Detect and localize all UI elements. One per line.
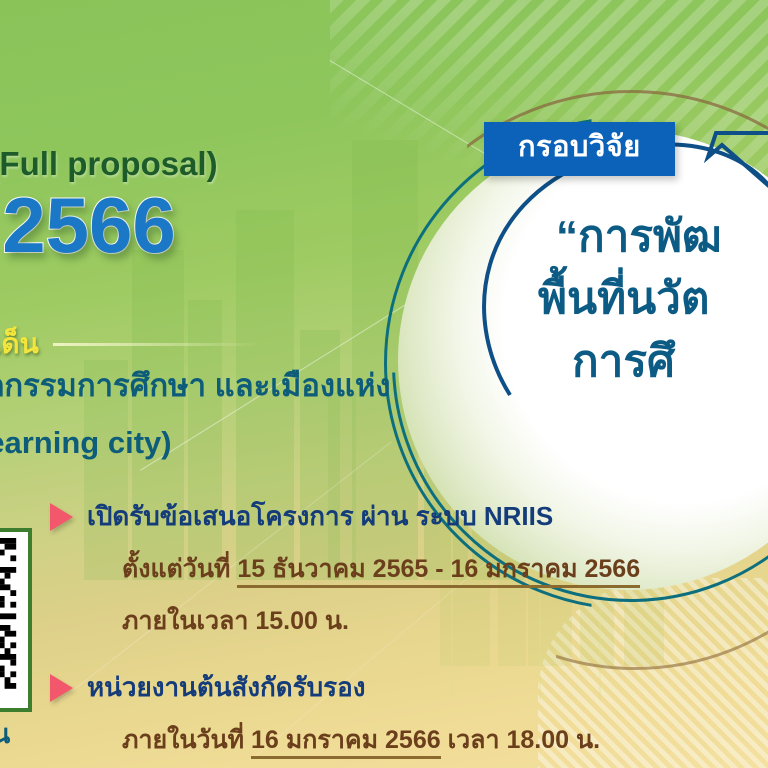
circle-quote-line-2: พื้นที่นวัต [538,268,768,330]
headline-subtitle: รงการวิจัย (Full proposal) [0,146,472,182]
research-framework-badge[interactable]: กรอบวิจัย [484,122,675,176]
list-item-line: ภายในวันที่ 16 มกราคม 2566 เวลา 18.00 น. [122,720,750,760]
qr-code[interactable] [0,528,32,712]
topic-line-2: (Learning city) [0,425,172,461]
line-underlined: 15 ธันวาคม 2565 - 16 มกราคม 2566 [237,555,640,588]
line-underlined: 16 มกราคม 2566 [251,726,441,759]
headline-year-row: ประมาณ 2566 [0,188,472,270]
triangle-bullet-icon [50,503,73,531]
deadline-list: เปิดรับข้อเสนอโครงการ ผ่าน ระบบ NRIIS ตั… [50,496,750,766]
circle-quote-line-1: “การพัฒ [556,206,768,268]
headline-block: กาศ รงการวิจัย (Full proposal) ประมาณ 25… [0,48,472,270]
line-prefix: ภายในเวลา 15.00 น. [122,607,349,635]
circle-quote-text: “การพัฒ พื้นที่นวัต การศึ [556,206,768,393]
topic-line-1: นที่นวัตกรรมการศึกษา และเมืองแห่ง [0,360,391,410]
list-item-line: ตั้งแต่วันที่ 15 ธันวาคม 2565 - 16 มกราค… [122,549,750,589]
list-item-line: ภายในเวลา 15.00 น. [122,601,750,641]
list-item-title: หน่วยงานต้นสังกัดรับรอง [87,667,365,708]
year-value: 2566 [2,188,176,262]
headline-main: กาศ [0,48,472,132]
line-suffix: เวลา 18.00 น. [441,726,600,754]
list-item: หน่วยงานต้นสังกัดรับรอง ภายในวันที่ 16 ม… [50,667,750,760]
list-item: เปิดรับข้อเสนอโครงการ ผ่าน ระบบ NRIIS ตั… [50,496,750,641]
bottom-clipped-word: ทุน [0,712,10,755]
list-item-title: เปิดรับข้อเสนอโครงการ ผ่าน ระบบ NRIIS [87,496,553,537]
list-item-header: หน่วยงานต้นสังกัดรับรอง [50,667,750,708]
list-item-header: เปิดรับข้อเสนอโครงการ ผ่าน ระบบ NRIIS [50,496,750,537]
line-prefix: ตั้งแต่วันที่ [122,555,237,583]
line-prefix: ภายในวันที่ [122,726,251,754]
poster-canvas: กาศ รงการวิจัย (Full proposal) ประมาณ 25… [0,0,768,768]
triangle-bullet-icon [50,674,73,702]
topic-divider [53,343,263,346]
circle-quote-line-3: การศึ [572,331,768,393]
qr-code-pattern [0,538,22,689]
